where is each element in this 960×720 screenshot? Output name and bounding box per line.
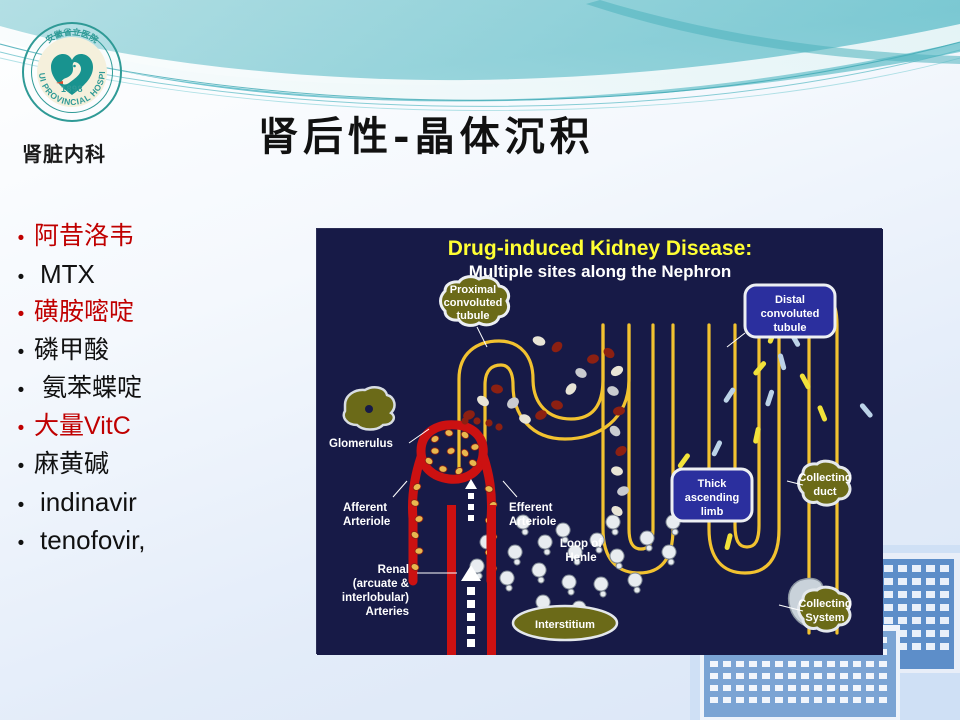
bullet-label: 阿昔洛韦 (34, 222, 134, 251)
department-label: 肾脏内科 (22, 138, 106, 167)
bullet-label: 大量VitC (34, 412, 131, 441)
drug-bullet-list: •阿昔洛韦•MTX•磺胺嘧啶•磷甲酸•氨苯蝶啶•大量VitC•麻黄碱•indin… (8, 222, 308, 564)
bullet-dot-icon: • (8, 381, 34, 400)
pct-line3: tubule (457, 310, 490, 322)
pct-line1: Proximal (450, 284, 496, 296)
bullet-dot-icon: • (8, 305, 34, 324)
tal-line1: Thick (698, 478, 728, 490)
figure-title: Drug-induced Kidney Disease: (448, 237, 753, 260)
cs-line2: System (805, 612, 844, 624)
bullet-dot-icon: • (8, 343, 34, 362)
bullet-label: 氨苯蝶啶 (34, 374, 142, 403)
bullet-dot-icon: • (8, 268, 34, 287)
bullet-dot-icon: • (8, 496, 34, 515)
cs-line1: Collecting (798, 598, 851, 610)
cd-line2: duct (813, 486, 837, 498)
tal-line2: ascending (685, 492, 739, 504)
renal-line4: Arteries (366, 606, 409, 618)
hospital-logo: 安徽省立医院 ANHUI PROVINCIAL HOSPITAL 1898 (22, 22, 122, 122)
renal-line3: interlobular) (342, 592, 409, 604)
pct-line2: convoluted (444, 297, 503, 309)
bullet-item-3: •磷甲酸 (8, 336, 308, 374)
bullet-item-8: •tenofovir, (8, 526, 308, 564)
bullet-item-1: •MTX (8, 260, 308, 298)
bullet-label: indinavir (34, 488, 137, 518)
dct-line1: Distal (775, 294, 805, 306)
nephron-diagram-image: Drug-induced Kidney Disease: Multiple si… (316, 228, 882, 654)
efferent-line1: Efferent (509, 502, 553, 514)
callout-thick-ascending-limb[interactable]: Thick ascending limb (672, 469, 752, 521)
renal-artery-trunk (447, 479, 496, 655)
page-title: 肾后性-晶体沉积 (258, 104, 595, 162)
svg-text:安徽省立医院: 安徽省立医院 (44, 27, 101, 45)
bullet-label: MTX (34, 260, 95, 290)
dct-line2: convoluted (761, 308, 820, 320)
bullet-label: 麻黄碱 (34, 450, 109, 479)
bullet-item-6: •麻黄碱 (8, 450, 308, 488)
bullet-dot-icon: • (8, 457, 34, 476)
interstitium-label: Interstitium (535, 619, 595, 631)
dct-line3: tubule (774, 322, 807, 334)
logo-year: 1898 (22, 84, 122, 94)
bullet-item-7: •indinavir (8, 488, 308, 526)
figure-subtitle: Multiple sites along the Nephron (469, 262, 732, 281)
bullet-label: 磺胺嘧啶 (34, 298, 134, 327)
cd-line1: Collecting (798, 472, 851, 484)
bullet-item-2: •磺胺嘧啶 (8, 298, 308, 336)
bullet-dot-icon: • (8, 419, 34, 438)
henle-line2: Henle (565, 552, 596, 564)
bullet-dot-icon: • (8, 534, 34, 553)
callout-interstitium[interactable]: Interstitium (513, 606, 617, 640)
bullet-item-5: •大量VitC (8, 412, 308, 450)
glomerulus-label: Glomerulus (329, 438, 393, 450)
afferent-line1: Afferent (343, 502, 387, 514)
tal-line3: limb (701, 506, 724, 518)
afferent-line2: Arteriole (343, 516, 390, 528)
bullet-dot-icon: • (8, 229, 34, 248)
logo-chinese-text: 安徽省立医院 (44, 27, 101, 45)
efferent-line2: Arteriole (509, 516, 556, 528)
renal-line1: Renal (378, 564, 409, 576)
bullet-label: tenofovir, (34, 526, 146, 556)
bullet-item-0: •阿昔洛韦 (8, 222, 308, 260)
bullet-label: 磷甲酸 (34, 336, 109, 365)
renal-line2: (arcuate & (353, 578, 409, 590)
bullet-item-4: •氨苯蝶啶 (8, 374, 308, 412)
henle-line1: Loop of (560, 538, 602, 550)
